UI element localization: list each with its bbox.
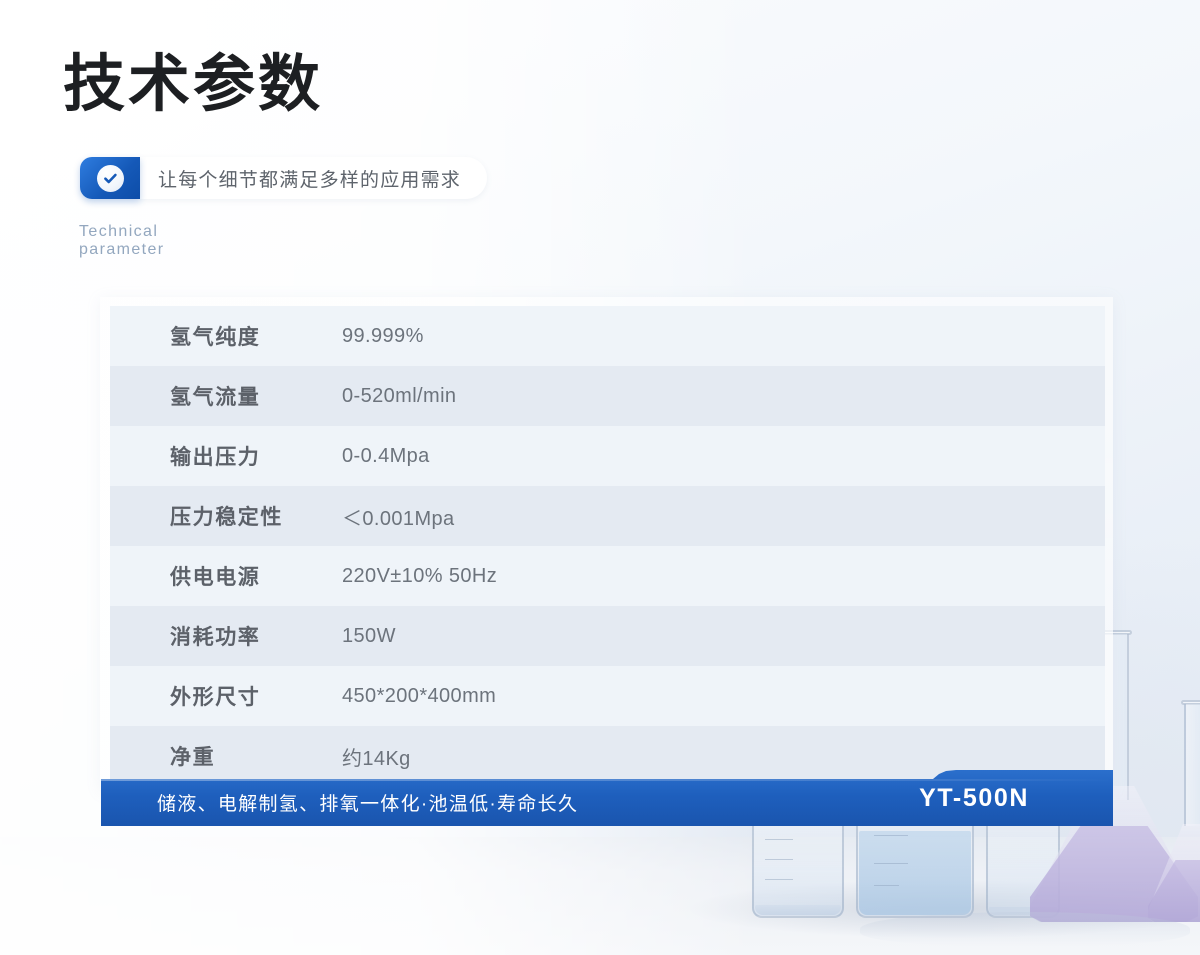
- spec-value: 0-0.4Mpa: [342, 445, 430, 468]
- spec-value: ＜0.001Mpa: [342, 502, 455, 531]
- table-row: 氢气流量 0-520ml/min: [110, 366, 1105, 426]
- spec-label: 压力稳定性: [110, 501, 342, 531]
- spec-label: 氢气流量: [110, 381, 342, 411]
- glassware-reflection: [860, 912, 1190, 946]
- check-badge: [80, 157, 140, 199]
- spec-label: 外形尺寸: [110, 681, 342, 711]
- flask-erlenmeyer-small-right: [1148, 700, 1200, 922]
- check-circle-icon: [97, 165, 124, 192]
- table-row: 压力稳定性 ＜0.001Mpa: [110, 486, 1105, 546]
- spec-value: 99.999%: [342, 325, 424, 348]
- spec-value: 220V±10% 50Hz: [342, 565, 497, 588]
- spec-label: 消耗功率: [110, 621, 342, 651]
- spec-label: 输出压力: [110, 441, 342, 471]
- subtitle-english: Technical parameter: [79, 223, 165, 259]
- tagline-row: 让每个细节都满足多样的应用需求: [80, 157, 487, 199]
- banner-features-text: 储液、电解制氢、排氧一体化·池温低·寿命长久: [157, 779, 578, 826]
- tagline-text: 让每个细节都满足多样的应用需求: [140, 157, 487, 199]
- spec-label: 氢气纯度: [110, 321, 342, 351]
- spec-value: 450*200*400mm: [342, 685, 496, 708]
- spec-label: 净重: [110, 741, 342, 771]
- spec-table: 氢气纯度 99.999% 氢气流量 0-520ml/min 输出压力 0-0.4…: [100, 297, 1113, 790]
- table-row: 消耗功率 150W: [110, 606, 1105, 666]
- page-title: 技术参数: [63, 46, 323, 124]
- beaker-small-left: [752, 812, 844, 918]
- spec-value: 0-520ml/min: [342, 385, 456, 408]
- spec-value: 约14Kg: [342, 742, 411, 771]
- table-row: 氢气纯度 99.999%: [110, 306, 1105, 366]
- table-row: 外形尺寸 450*200*400mm: [110, 666, 1105, 726]
- spec-value: 150W: [342, 625, 396, 648]
- table-row: 输出压力 0-0.4Mpa: [110, 426, 1105, 486]
- model-number-label: YT-500N: [919, 770, 1029, 826]
- spec-label: 供电电源: [110, 561, 342, 591]
- table-row: 供电电源 220V±10% 50Hz: [110, 546, 1105, 606]
- bottom-banner: 储液、电解制氢、排氧一体化·池温低·寿命长久 YT-500N: [101, 770, 1113, 826]
